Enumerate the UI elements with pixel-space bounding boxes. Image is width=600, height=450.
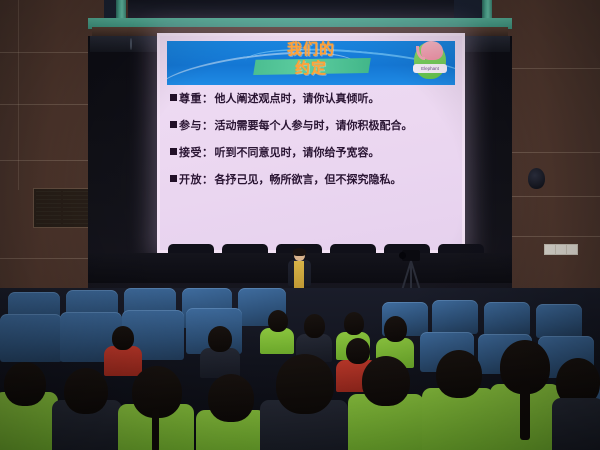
camera-lens-icon bbox=[399, 252, 406, 259]
bullet-text: 各抒己见，畅所欲言，但不探究隐私。 bbox=[215, 173, 402, 187]
list-item: 接受： 听到不同意见时，请你给予宽容。 bbox=[170, 146, 456, 160]
bullet-key: 开放： bbox=[179, 173, 214, 187]
bullet-square-icon bbox=[170, 175, 177, 182]
wall-speaker-icon bbox=[528, 168, 545, 189]
bullet-square-icon bbox=[170, 148, 177, 155]
bullet-square-icon bbox=[170, 121, 177, 128]
auditorium-seat bbox=[536, 304, 582, 338]
auditorium-seat bbox=[432, 300, 478, 334]
student-head bbox=[208, 374, 254, 422]
student-head bbox=[208, 326, 232, 352]
list-item: 参与： 活动需要每个人参与时，请你积极配合。 bbox=[170, 119, 456, 133]
student-head bbox=[344, 312, 364, 335]
student-head bbox=[436, 350, 482, 398]
student-head bbox=[268, 310, 288, 332]
auditorium-seat bbox=[0, 314, 62, 362]
student-head bbox=[304, 314, 325, 338]
student-head bbox=[64, 368, 108, 414]
bullet-square-icon bbox=[170, 94, 177, 101]
list-item: 尊重： 他人阐述观点时，请你认真倾听。 bbox=[170, 92, 456, 106]
student-head bbox=[112, 326, 134, 350]
audience-area bbox=[0, 288, 600, 450]
wall-light-switches[interactable] bbox=[544, 244, 578, 255]
auditorium-seat bbox=[484, 302, 530, 336]
presentation-slide: 我们的 约定 Elephant 尊重： 他人阐述观点时，请你认真倾听。 参与： bbox=[160, 36, 462, 250]
list-item: 开放： 各抒己见，畅所欲言，但不探究隐私。 bbox=[170, 173, 456, 187]
student-uniform bbox=[552, 398, 600, 450]
student-head bbox=[384, 316, 407, 342]
wall-seam bbox=[18, 0, 19, 190]
student-ponytail bbox=[520, 384, 530, 440]
student-head bbox=[362, 356, 410, 406]
slide-title-line1: 我们的 bbox=[287, 40, 335, 58]
student-ponytail bbox=[152, 408, 159, 450]
elephant-mascot-icon: Elephant bbox=[412, 38, 448, 80]
bullet-key: 接受： bbox=[179, 146, 214, 160]
slide-bullet-list: 尊重： 他人阐述观点时，请你认真倾听。 参与： 活动需要每个人参与时，请你积极配… bbox=[170, 92, 456, 200]
bullet-text: 他人阐述观点时，请你认真倾听。 bbox=[215, 92, 380, 106]
notice-sheet bbox=[36, 191, 61, 225]
notice-sheet bbox=[63, 191, 88, 225]
student-head bbox=[4, 362, 46, 406]
bullet-key: 参与： bbox=[179, 119, 214, 133]
student-head bbox=[346, 338, 370, 364]
presenter-hair bbox=[293, 248, 306, 256]
student-uniform bbox=[104, 346, 142, 376]
bullet-key: 尊重： bbox=[179, 92, 214, 106]
auditorium-photo: 我们的 约定 Elephant 尊重： 他人阐述观点时，请你认真倾听。 参与： bbox=[0, 0, 600, 450]
bullet-text: 活动需要每个人参与时，请你积极配合。 bbox=[215, 119, 413, 133]
student-head bbox=[276, 354, 334, 414]
notice-board bbox=[33, 188, 91, 228]
projection-screen: 我们的 约定 Elephant 尊重： 他人阐述观点时，请你认真倾听。 参与： bbox=[157, 33, 465, 253]
bullet-text: 听到不同意见时，请你给予宽容。 bbox=[215, 146, 380, 160]
mascot-label: Elephant bbox=[413, 64, 447, 73]
